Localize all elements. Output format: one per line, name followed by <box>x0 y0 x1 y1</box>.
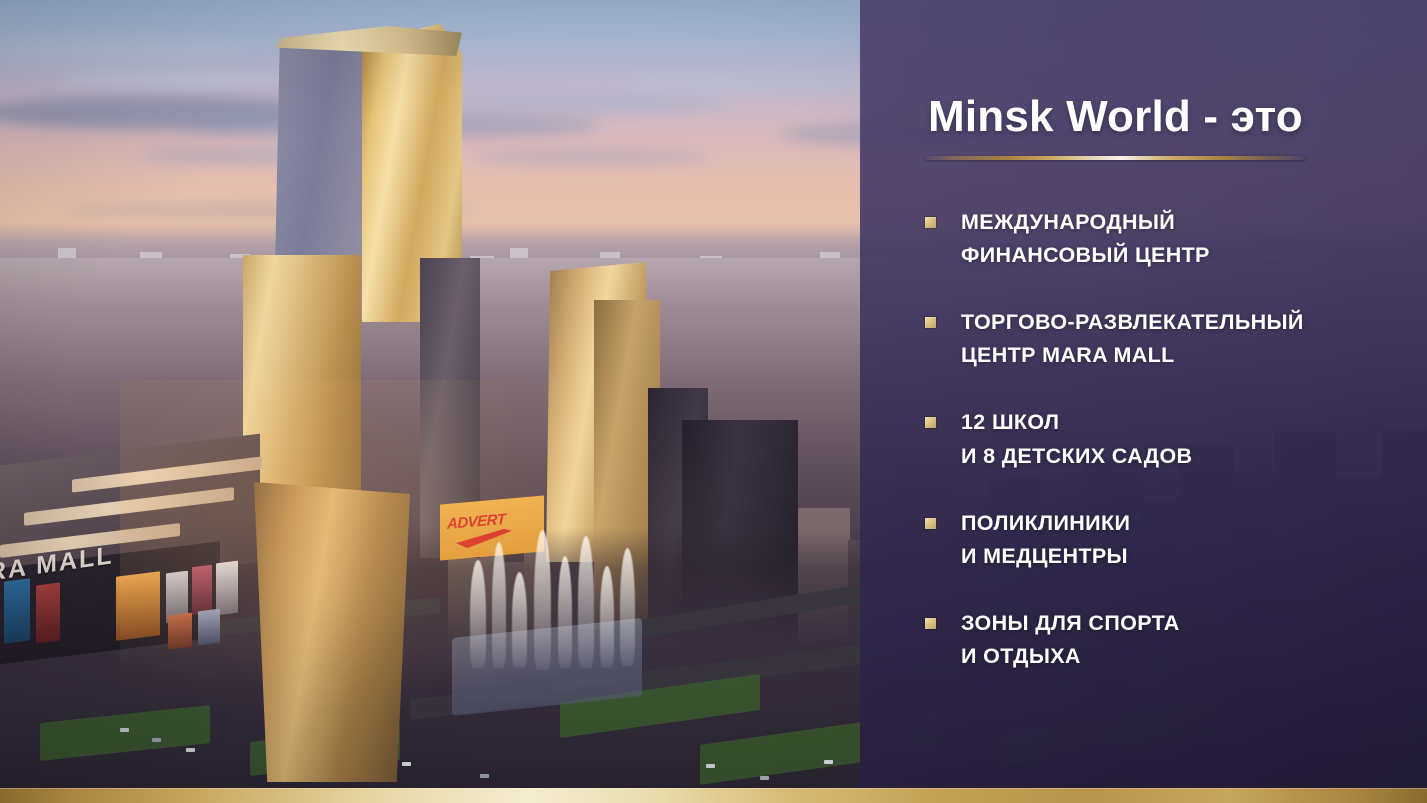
list-item-label: МЕЖДУНАРОДНЫЙ ФИНАНСОВЫЙ ЦЕНТР <box>961 206 1210 272</box>
tower-b-lower <box>244 482 410 782</box>
list-item: ПОЛИКЛИНИКИ И МЕДЦЕНТРЫ <box>925 507 1417 573</box>
bullet-square-icon <box>925 518 936 529</box>
list-item-label: ТОРГОВО-РАЗВЛЕКАТЕЛЬНЫЙ ЦЕНТР MARA MALL <box>961 306 1304 372</box>
list-item-label: 12 ШКОЛ И 8 ДЕТСКИХ САДОВ <box>961 406 1192 472</box>
bullet-square-icon <box>925 217 936 228</box>
bullet-square-icon <box>925 417 936 428</box>
feature-list: МЕЖДУНАРОДНЫЙ ФИНАНСОВЫЙ ЦЕНТР ТОРГОВО-Р… <box>925 206 1417 707</box>
presentation-slide: RA MALL ADVERT Minsk World - это <box>0 0 1427 803</box>
list-item-label: ПОЛИКЛИНИКИ И МЕДЦЕНТРЫ <box>961 507 1130 573</box>
cloud <box>0 38 250 64</box>
page-title: Minsk World - это <box>928 92 1303 142</box>
advert-billboard: ADVERT <box>440 495 544 560</box>
cloud <box>470 150 710 164</box>
list-item: МЕЖДУНАРОДНЫЙ ФИНАНСОВЫЙ ЦЕНТР <box>925 206 1417 272</box>
footer-gold-bar <box>0 788 1427 803</box>
cloud <box>60 70 290 90</box>
title-divider <box>925 156 1305 160</box>
list-item: ТОРГОВО-РАЗВЛЕКАТЕЛЬНЫЙ ЦЕНТР MARA MALL <box>925 306 1417 372</box>
content-panel: Minsk World - это МЕЖДУНАРОДНЫЙ ФИНАНСОВ… <box>860 0 1427 788</box>
cloud <box>430 92 730 114</box>
bullet-square-icon <box>925 618 936 629</box>
list-item: 12 ШКОЛ И 8 ДЕТСКИХ САДОВ <box>925 406 1417 472</box>
list-item-label: ЗОНЫ ДЛЯ СПОРТА И ОТДЫХА <box>961 607 1180 673</box>
bullet-square-icon <box>925 317 936 328</box>
list-item: ЗОНЫ ДЛЯ СПОРТА И ОТДЫХА <box>925 607 1417 673</box>
advert-billboard-text: ADVERT <box>447 511 505 533</box>
